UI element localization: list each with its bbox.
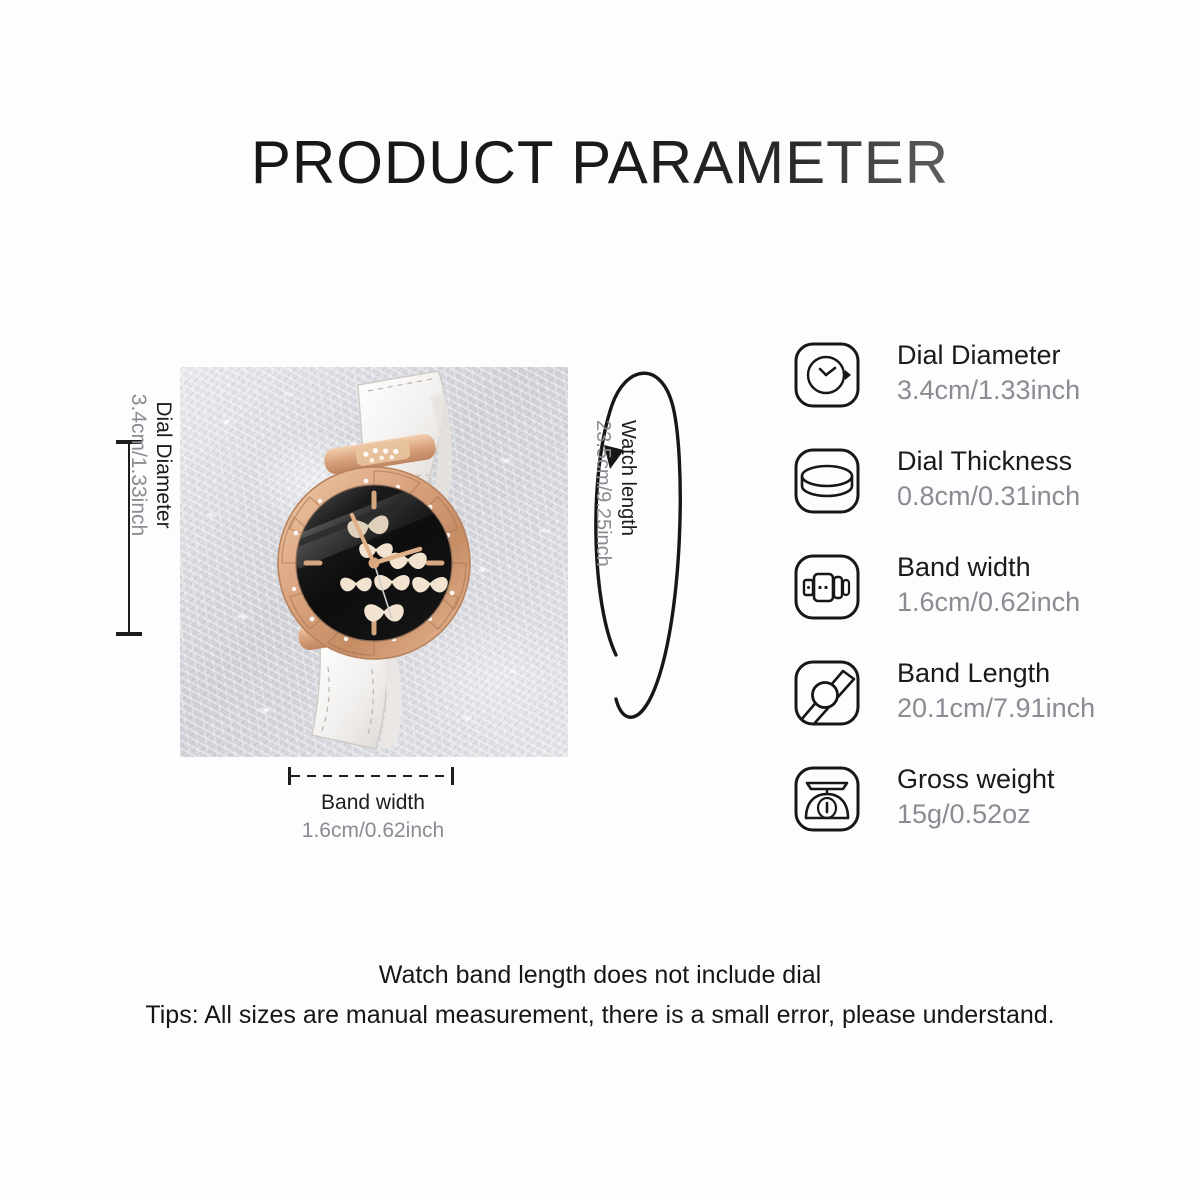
watch-length-label: 23.5cm/9.25inch Watch length <box>585 420 645 680</box>
note-band-length: Watch band length does not include dial <box>0 955 1200 995</box>
spec-list: Dial Diameter 3.4cm/1.33inch Dial Thickn… <box>793 341 1153 871</box>
spec-row-gross-weight: Gross weight 15g/0.52oz <box>793 765 1153 871</box>
dimension-dashed-line <box>291 775 451 777</box>
spec-value: 15g/0.52oz <box>897 797 1055 832</box>
footer-notes: Watch band length does not include dial … <box>0 955 1200 1035</box>
dial-diameter-dimension-value: 3.4cm/1.33inch <box>126 394 151 536</box>
watch-length-name: Watch length <box>615 420 640 536</box>
page-title: PRODUCT PARAMETER <box>0 128 1200 197</box>
band-width-dimension-name: Band width <box>248 789 498 817</box>
spec-row-band-length: Band Length 20.1cm/7.91inch <box>793 659 1153 765</box>
spec-name: Band Length <box>897 656 1095 691</box>
weighing-scale-icon <box>793 765 861 833</box>
spec-value: 20.1cm/7.91inch <box>897 691 1095 726</box>
spec-name: Dial Diameter <box>897 338 1080 373</box>
band-width-dimension-value: 1.6cm/0.62inch <box>248 817 498 845</box>
product-photo <box>180 367 568 757</box>
spec-value: 0.8cm/0.31inch <box>897 479 1080 514</box>
spec-text-dial-thickness: Dial Thickness 0.8cm/0.31inch <box>897 444 1080 513</box>
spec-row-dial-diameter: Dial Diameter 3.4cm/1.33inch <box>793 341 1153 447</box>
spec-text-band-width: Band width 1.6cm/0.62inch <box>897 550 1080 619</box>
watch-buckle-icon <box>793 553 861 621</box>
spec-value: 3.4cm/1.33inch <box>897 373 1080 408</box>
product-parameter-page: PRODUCT PARAMETER <box>0 0 1200 1200</box>
band-width-dimension-label: Band width 1.6cm/0.62inch <box>248 789 498 846</box>
spec-row-band-width: Band width 1.6cm/0.62inch <box>793 553 1153 659</box>
dial-diameter-dimension-name: Dial Diameter <box>151 401 176 528</box>
spec-row-dial-thickness: Dial Thickness 0.8cm/0.31inch <box>793 447 1153 553</box>
dimension-cap-right <box>451 767 454 785</box>
spec-value: 1.6cm/0.62inch <box>897 585 1080 620</box>
watch-illustration <box>180 367 568 757</box>
spec-name: Dial Thickness <box>897 444 1080 479</box>
watch-dial-icon <box>793 341 861 409</box>
watch-strap-icon <box>793 659 861 727</box>
spec-text-gross-weight: Gross weight 15g/0.52oz <box>897 762 1055 831</box>
spec-name: Band width <box>897 550 1080 585</box>
spec-text-dial-diameter: Dial Diameter 3.4cm/1.33inch <box>897 338 1080 407</box>
band-width-dimension-line <box>288 775 454 777</box>
dial-diameter-dimension-label: 3.4cm/1.33inch Dial Diameter <box>121 360 181 570</box>
dial-thickness-icon <box>793 447 861 515</box>
note-tips: Tips: All sizes are manual measurement, … <box>0 995 1200 1035</box>
watch-length-value: 23.5cm/9.25inch <box>590 420 615 567</box>
spec-name: Gross weight <box>897 762 1055 797</box>
spec-text-band-length: Band Length 20.1cm/7.91inch <box>897 656 1095 725</box>
